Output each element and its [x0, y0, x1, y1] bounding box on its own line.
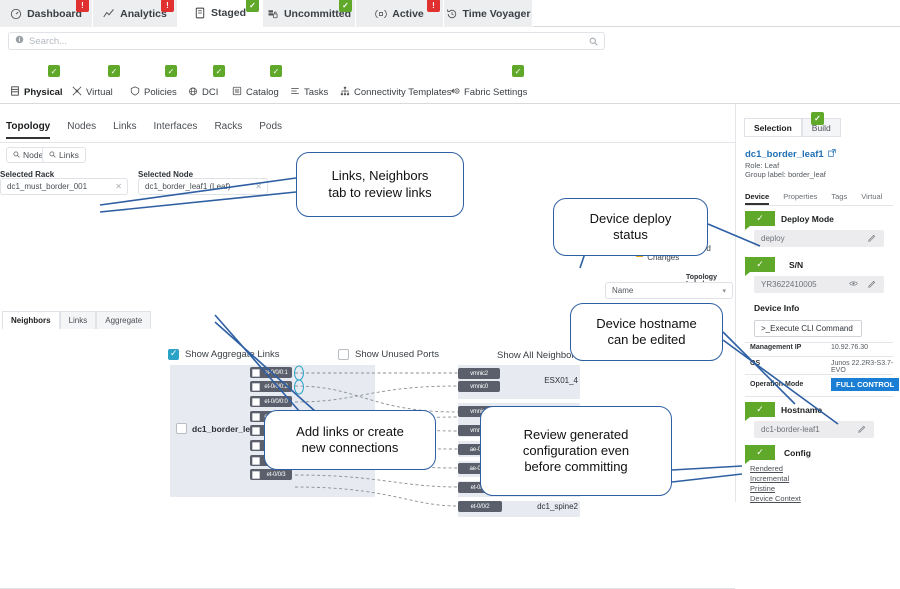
callout-links-neighbors: Links, Neighborstab to review links: [296, 152, 464, 217]
callout-add-links: Add links or createnew connections: [264, 410, 436, 470]
neighbor-node-label: dc1_spine2: [470, 502, 578, 511]
callout-line: Add links or create: [296, 424, 404, 439]
callout-line: Device deploy: [590, 211, 672, 226]
callout-review-config: Review generatedconfiguration evenbefore…: [480, 406, 672, 496]
callout-line: new connections: [302, 440, 399, 455]
callout-line: tab to review links: [328, 185, 431, 200]
callout-line: Links, Neighbors: [332, 168, 429, 183]
callout-device-hostname: Device hostnamecan be edited: [570, 303, 723, 361]
callout-line: status: [613, 227, 648, 242]
callout-line: Review generated: [524, 427, 629, 442]
callout-device-deploy-status: Device deploystatus: [553, 198, 708, 256]
callout-line: Device hostname: [596, 316, 696, 331]
callout-line: before committing: [524, 459, 627, 474]
callout-leader-lines: [0, 0, 900, 502]
callout-line: configuration even: [523, 443, 629, 458]
callout-line: can be edited: [607, 332, 685, 347]
